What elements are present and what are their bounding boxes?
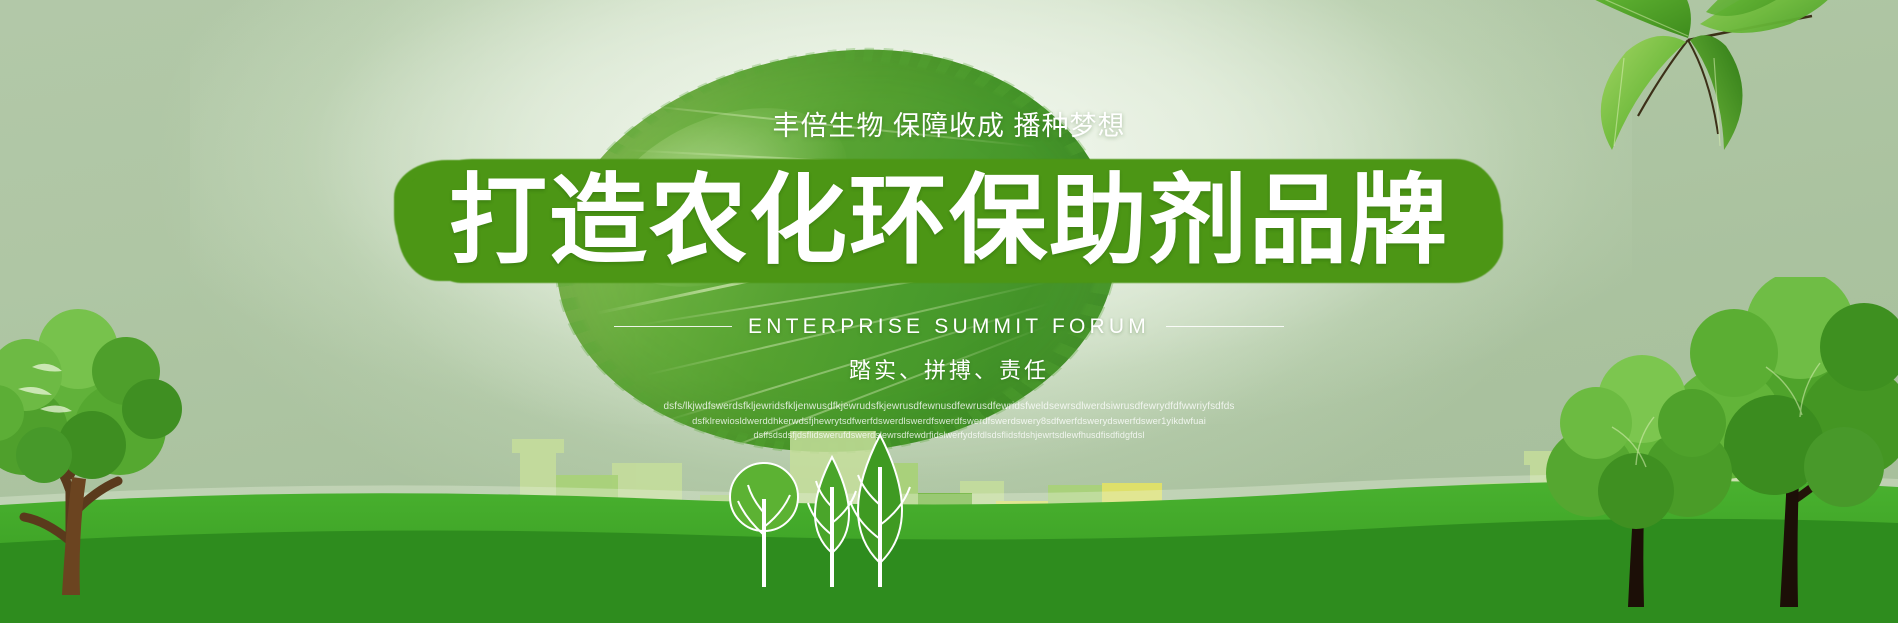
rule-left [614, 326, 732, 327]
hero-banner: 丰倍生物 保障收成 播种梦想 打造农化环保助剂品牌 ENTERPRISE SUM… [0, 0, 1898, 623]
english-subtitle-row: ENTERPRISE SUMMIT FORUM [0, 315, 1898, 339]
headline-band: 打造农化环保助剂品牌 [403, 159, 1495, 289]
filler-line-3: dsffsdsdsfjdsflidswerufdswerdslewrsdfewd… [0, 429, 1898, 443]
rule-right [1166, 326, 1284, 327]
tagline: 丰倍生物 保障收成 播种梦想 [0, 104, 1898, 143]
filler-line-1: dsfs/lkjwdfswerdsfkljewridsfkljenwusdfkj… [0, 399, 1898, 415]
banner-content: 丰倍生物 保障收成 播种梦想 打造农化环保助剂品牌 ENTERPRISE SUM… [0, 104, 1898, 443]
english-subtitle: ENTERPRISE SUMMIT FORUM [748, 315, 1150, 339]
filler-line-2: dsfklrewiosldwerddhkerwdsfjhewrytsdfwerf… [0, 414, 1898, 429]
page-title: 打造农化环保助剂品牌 [449, 171, 1449, 271]
filler-paragraph: dsfs/lkjwdfswerdsfkljewridsfkljenwusdfkj… [0, 399, 1898, 443]
outline-trees-icon [720, 427, 920, 587]
chinese-subtitle: 踏实、拼搏、责任 [0, 353, 1898, 385]
